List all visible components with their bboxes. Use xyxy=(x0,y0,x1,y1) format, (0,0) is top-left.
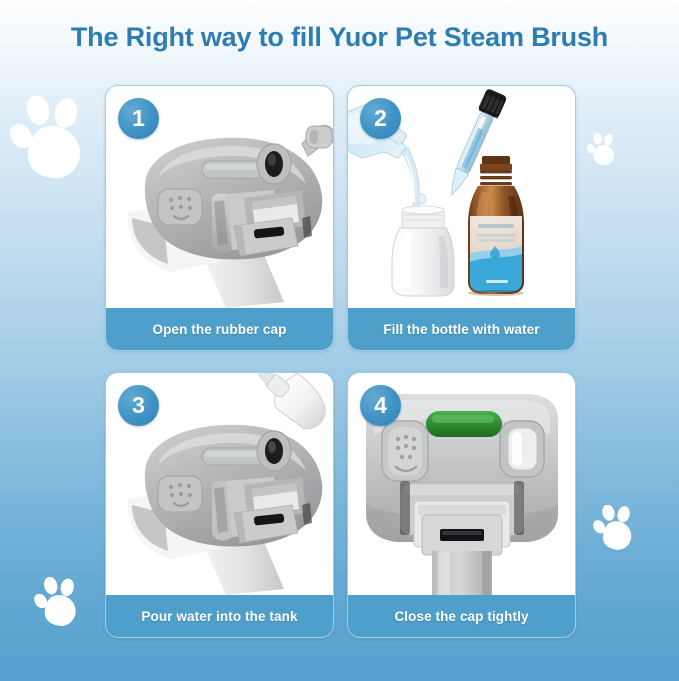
step-2-badge: 2 xyxy=(360,98,401,139)
step-4-caption: Close the cap tightly xyxy=(348,595,575,637)
step-card-2[interactable]: 2 Fill the bottle with water xyxy=(347,85,576,351)
step-card-3[interactable]: 3 Pour water into the tank xyxy=(105,372,334,638)
step-1-badge: 1 xyxy=(118,98,159,139)
paw-print-bottom-left-icon xyxy=(33,577,85,632)
step-3-caption: Pour water into the tank xyxy=(106,595,333,637)
paw-print-bottom-right-icon xyxy=(592,505,640,555)
page-title: The Right way to fill Yuor Pet Steam Bru… xyxy=(0,22,679,53)
paw-print-top-right-icon xyxy=(586,133,620,169)
step-card-1[interactable]: 1 Open the rubber cap xyxy=(105,85,334,351)
step-3-badge: 3 xyxy=(118,385,159,426)
step-4-badge: 4 xyxy=(360,385,401,426)
paw-print-top-left-icon xyxy=(8,96,96,188)
step-2-caption: Fill the bottle with water xyxy=(348,308,575,350)
step-card-4[interactable]: 4 Close the cap tightly xyxy=(347,372,576,638)
step-1-caption: Open the rubber cap xyxy=(106,308,333,350)
steps-grid: 1 Open the rubber cap xyxy=(105,85,574,636)
